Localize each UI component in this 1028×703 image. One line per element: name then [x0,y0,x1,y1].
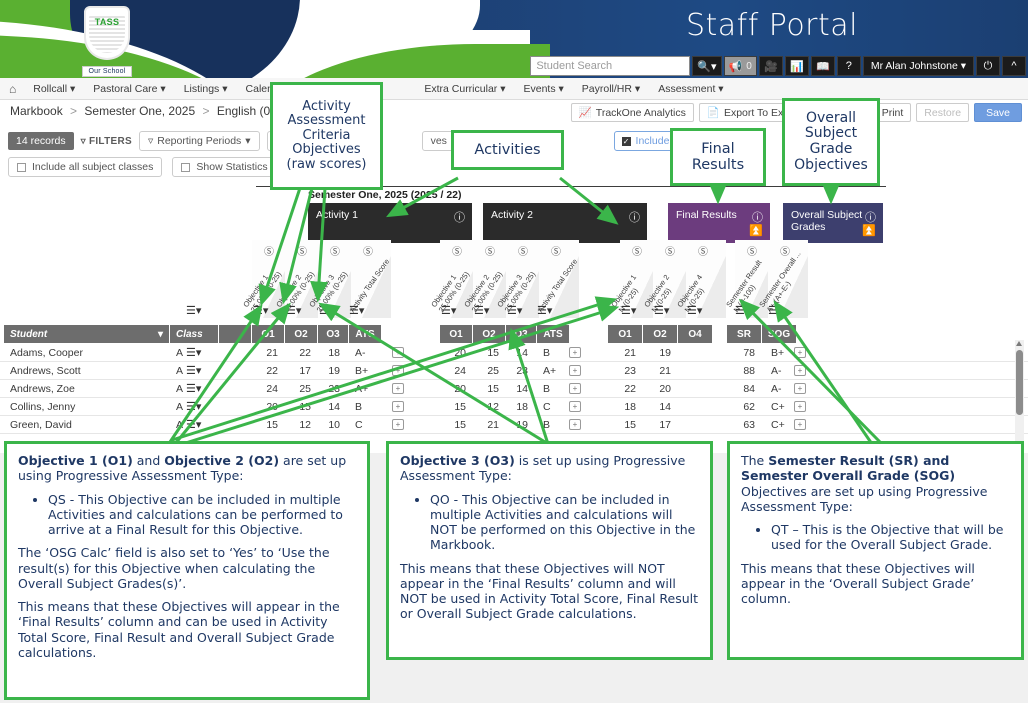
column-menu-icon[interactable]: ☰▾ [621,304,636,320]
fr-o2-cell[interactable]: 17 [643,416,677,434]
breadcrumb-separator: > [202,104,209,118]
a2-o1-cell[interactable]: 24 [440,362,472,380]
column-menu-icon-student[interactable]: ☰▾ [186,304,201,320]
a2-o1-cell[interactable]: 15 [440,398,472,416]
a1-o2-cell[interactable]: 17 [285,362,317,380]
column-header-fr-o2[interactable]: O2 [643,325,677,343]
breadcrumb-separator: > [70,104,77,118]
group-title: Activity 2 [491,209,533,221]
note-add-icon[interactable]: + [794,383,806,394]
info-icon[interactable]: ⓘ [629,209,640,225]
menu-label: Assessment [658,83,715,95]
menu-item-assessment[interactable]: Assessment ▾ [649,83,732,95]
student-name-cell[interactable]: Adams, Cooper [4,344,169,362]
note2-bullet-1: QO - This Objective can be included in m… [430,492,699,553]
a2-ats-cell[interactable]: B [537,416,569,434]
menu-label: Rollcall [33,83,67,95]
fr-o1-cell[interactable]: 15 [608,416,642,434]
no-entry-icon: Ⓢ [330,243,340,258]
column-header-a2-o1[interactable]: O1 [440,325,472,343]
a2-ats-cell[interactable]: B [537,344,569,362]
note-add-icon[interactable]: + [569,383,581,394]
a1-ats-cell[interactable]: A+ [349,380,381,398]
button-label: Restore [924,107,961,119]
column-menu-icon[interactable]: ☰▾ [507,304,522,320]
note2-paragraph-1: Objective 3 (O3) is set up using Progres… [400,453,699,484]
a1-ats-cell[interactable]: B+ [349,362,381,380]
column-header-class[interactable]: Class [170,325,218,343]
no-entry-icon: Ⓢ [747,243,757,258]
group-header-activity-2[interactable]: Activity 2 ⓘ [483,203,647,243]
a1-o1-cell[interactable]: 15 [252,416,284,434]
no-entry-icon: Ⓢ [518,243,528,258]
include-all-subject-classes-checkbox[interactable]: Include all subject classes [8,157,162,177]
a2-ats-cell[interactable]: B [537,380,569,398]
note-add-icon[interactable]: + [392,383,404,394]
callout-text: Activities [474,142,540,158]
note1-paragraph-3: This means that these Objectives will ap… [18,599,356,660]
shield-icon: TASS [84,6,130,60]
column-header-osg-sr[interactable]: SR [727,325,761,343]
column-menu-icon[interactable]: ☰▾ [768,304,783,320]
note2-paragraph-2: This means that these Objectives will NO… [400,561,699,622]
menu-item-payroll-hr[interactable]: Payroll/HR ▾ [573,83,649,95]
note3-paragraph-1: The Semester Result (SR) and Semester Ov… [741,453,1010,514]
checkbox-icon [181,163,190,172]
fr-o1-cell[interactable]: 23 [608,362,642,380]
record-count-badge: 14 records [8,132,74,150]
a1-o2-cell[interactable]: 22 [285,344,317,362]
a1-o2-cell[interactable]: 15 [285,398,317,416]
analytics-icon: 📈 [579,106,592,119]
secondary-filter-bar: Include all subject classes Show Statist… [8,157,277,177]
row-menu-icon[interactable]: ☰▾ [186,364,201,380]
scrollbar-thumb[interactable] [1016,350,1023,415]
note-add-icon[interactable]: + [794,401,806,412]
note-objective-3: Objective 3 (O3) is set up using Progres… [386,441,713,660]
logo-tass-text: TASS [86,17,128,27]
note2-bold: Objective 3 (O3) [400,453,515,468]
a2-o1-cell[interactable]: 20 [440,344,472,362]
note-semester-result-sog: The Semester Result (SR) and Semester Ov… [727,441,1024,660]
column-menu-icon[interactable]: ☰▾ [286,304,301,320]
group-header-overall-subject-grades[interactable]: Overall Subject Grades ⓘ ⏫ [783,203,883,243]
a1-o2-cell[interactable]: 25 [285,380,317,398]
book-icon[interactable]: 📖 [811,56,835,76]
checkbox-icon [17,163,26,172]
fr-o2-cell[interactable]: 19 [643,344,677,362]
column-header-fr-o4[interactable]: O4 [678,325,712,343]
note-add-icon[interactable]: + [392,365,404,376]
menu-item-listings[interactable]: Listings ▾ [175,83,237,95]
a2-o2-cell[interactable]: 21 [473,416,505,434]
filters-label[interactable]: ▿FILTERS [81,136,132,147]
student-name-cell[interactable]: Andrews, Zoe [4,380,169,398]
no-entry-icon: Ⓢ [264,243,274,258]
note-objective-1-2: Objective 1 (O1) and Objective 2 (O2) ar… [4,441,370,700]
video-icon[interactable]: 🎥 [759,56,783,76]
callout-text: Final Results [692,141,744,173]
column-header-fr-o1[interactable]: O1 [608,325,642,343]
help-icon[interactable]: ? [837,56,861,76]
restore-button[interactable]: Restore [916,103,969,122]
osg-sr-cell[interactable]: 62 [727,398,761,416]
note1-mid: and [133,453,164,468]
column-menu-icon[interactable]: ☰▾ [654,304,669,320]
reporting-periods-filter[interactable]: ▿Reporting Periods ▾ [139,131,260,151]
note1-bullet-1: QS - This Objective can be included in m… [48,492,356,538]
objective-header-band-osg: ⓈSemester ResultN (0-100) ⓈSemester Over… [735,240,895,318]
column-header-notes [219,325,251,343]
user-menu[interactable]: Mr Alan Johnstone ▾ [863,56,974,76]
home-icon[interactable]: ⌂ [0,82,24,96]
vertical-scrollbar[interactable] [1015,340,1024,450]
logo-school-name: Our School [82,66,131,77]
osg-sr-cell[interactable]: 63 [727,416,761,434]
sort-icon[interactable]: ▾ [158,329,169,340]
filter-label: Reporting Periods [157,135,241,147]
info-icon[interactable]: ⓘ [454,209,465,225]
note3-tail: Objectives are set up using Progressive … [741,484,988,514]
no-entry-icon: Ⓢ [297,243,307,258]
column-menu-icon[interactable]: ☰▾ [687,304,702,320]
fr-o4-cell[interactable] [678,398,712,416]
a2-o3-cell[interactable]: 18 [504,398,534,416]
fr-o4-cell[interactable] [678,416,712,434]
student-name-cell[interactable]: Green, David [4,416,169,434]
download-icon[interactable]: ⏫ [862,224,876,237]
show-statistics-checkbox[interactable]: Show Statistics [172,157,276,177]
note-add-icon[interactable]: + [392,419,404,430]
button-label: TrackOne Analytics [596,107,686,119]
no-entry-icon: Ⓢ [363,243,373,258]
note-add-icon[interactable]: + [569,401,581,412]
power-icon[interactable]: ⏻ [976,56,1000,76]
a1-o3-cell[interactable]: 18 [316,344,346,362]
a2-o2-cell[interactable]: 15 [473,380,505,398]
fr-o2-cell[interactable]: 20 [643,380,677,398]
a2-o1-cell[interactable]: 20 [440,380,472,398]
note1-paragraph-2: The ‘OSG Calc’ field is also set to ‘Yes… [18,545,356,591]
column-menu-icon[interactable]: ☰▾ [474,304,489,320]
filter-icon: ▿ [148,135,153,147]
menu-item-rollcall[interactable]: Rollcall ▾ [24,83,84,95]
osg-sr-cell[interactable]: 88 [727,362,761,380]
column-header-a2-o2[interactable]: O2 [473,325,505,343]
no-entry-icon: Ⓢ [551,243,561,258]
a2-o3-cell[interactable]: 14 [504,380,534,398]
header-utility-bar: Student Search 🔍▾ 📢0 🎥 📊 📖 ? Mr Alan Joh… [530,54,1026,78]
student-name-cell[interactable]: Andrews, Scott [4,362,169,380]
note2-bullets: QO - This Objective can be included in m… [400,492,699,553]
a2-o2-cell[interactable]: 15 [473,344,505,362]
row-menu-icon[interactable]: ☰▾ [186,382,201,398]
note1-bold-a: Objective 1 (O1) [18,453,133,468]
no-entry-icon: Ⓢ [665,243,675,258]
school-logo: TASS Our School [72,6,142,76]
group-title: Activity 1 [316,209,358,221]
note-add-icon[interactable]: + [392,401,404,412]
a1-o3-cell[interactable]: 19 [316,362,346,380]
note3-bullet-1: QT – This is the Objective that will be … [771,522,1010,553]
user-name: Mr Alan Johnstone [871,60,958,72]
no-entry-icon: Ⓢ [632,243,642,258]
a2-o2-cell[interactable]: 12 [473,398,505,416]
fr-o4-cell[interactable] [678,380,712,398]
no-entry-icon: Ⓢ [698,243,708,258]
column-menu-icon[interactable]: ☰▾ [735,304,750,320]
no-entry-icon: Ⓢ [780,243,790,258]
note-add-icon[interactable]: + [569,347,581,358]
column-menu-icon[interactable]: ☰▾ [349,304,364,320]
row-menu-icon[interactable]: ☰▾ [186,400,201,416]
a1-ats-cell[interactable]: B [349,398,381,416]
a1-o1-cell[interactable]: 20 [252,398,284,416]
menu-item-extra-curricular[interactable]: Extra Curricular ▾ [415,83,514,95]
note-add-icon[interactable]: + [569,365,581,376]
a2-o3-cell[interactable]: 19 [504,416,534,434]
column-header-a1-o2[interactable]: O2 [285,325,317,343]
a1-o1-cell[interactable]: 22 [252,362,284,380]
column-menu-icon[interactable]: ☰▾ [441,304,456,320]
no-entry-icon: Ⓢ [452,243,462,258]
menu-item-pastoral-care[interactable]: Pastoral Care ▾ [84,83,174,95]
a1-o2-cell[interactable]: 12 [285,416,317,434]
note3-paragraph-2: This means that these Objectives will ap… [741,561,1010,607]
button-label: Save [986,107,1010,119]
fr-o1-cell[interactable]: 22 [608,380,642,398]
page-title: Staff Portal [686,8,858,43]
column-header-a1-o3[interactable]: O3 [318,325,348,343]
a2-ats-cell[interactable]: A+ [537,362,569,380]
menu-item-events[interactable]: Events ▾ [514,83,572,95]
a1-o1-cell[interactable]: 21 [252,344,284,362]
no-entry-icon: Ⓢ [485,243,495,258]
note1-bold-b: Objective 2 (O2) [164,453,279,468]
callout-text: Activity Assessment Criteria Objectives … [287,100,367,173]
group-title: Final Results [676,209,737,221]
a1-ats-cell[interactable]: C [349,416,381,434]
note3-bullets: QT – This is the Objective that will be … [741,522,1010,553]
a1-ats-cell[interactable]: A- [349,344,381,362]
search-input[interactable]: Student Search [530,56,690,76]
menu-label: Events [523,83,555,95]
breadcrumb-item-markbook[interactable]: Markbook [10,104,63,118]
fr-o4-cell[interactable] [678,344,712,362]
scroll-up-arrow[interactable] [1016,341,1022,346]
group-title: Overall Subject Grades [791,209,862,233]
column-menu-icon[interactable]: ☰▾ [537,304,552,320]
fr-o4-cell[interactable] [678,362,712,380]
info-icon[interactable]: ⓘ [752,209,763,225]
breadcrumb: Markbook > Semester One, 2025 > English … [10,104,304,118]
notification-count: 0 [746,61,752,72]
callout-text: Overall Subject Grade Objectives [794,111,868,174]
checkbox-label: Include all subject classes [32,161,153,173]
menu-label: Listings [184,83,220,95]
group-header-final-results[interactable]: Final Results ⓘ ⏫ [668,203,770,243]
note-add-icon[interactable]: + [392,347,404,358]
menu-label: Pastoral Care [93,83,157,95]
column-header-a2-o3[interactable]: O3 [506,325,536,343]
a1-o3-cell[interactable]: 14 [316,398,346,416]
note3-bold: Semester Result (SR) and Semester Overal… [741,453,955,483]
callout-activity-criteria: Activity Assessment Criteria Objectives … [270,82,383,190]
column-menu-icon[interactable]: ☰▾ [253,304,268,320]
fr-o2-cell[interactable]: 14 [643,398,677,416]
a2-o3-cell[interactable]: 23 [504,362,534,380]
menu-label: Extra Curricular [424,83,497,95]
fr-o1-cell[interactable]: 18 [608,398,642,416]
semester-title: Semester One, 2025 (2025 / 22) [308,189,462,201]
export-icon: 📄 [707,106,720,119]
trackone-analytics-button[interactable]: 📈TrackOne Analytics [571,103,694,122]
a1-o3-cell[interactable]: 23 [316,380,346,398]
callout-activities: Activities [451,130,564,170]
a1-o3-cell[interactable]: 10 [316,416,346,434]
column-header-osg-sog[interactable]: SOG [762,325,796,343]
callout-final-results: Final Results [670,128,766,186]
column-menu-icon[interactable]: ☰▾ [319,304,334,320]
a2-o1-cell[interactable]: 15 [440,416,472,434]
column-header-student[interactable]: Student ▾ [4,325,169,343]
note1-bullets: QS - This Objective can be included in m… [18,492,356,538]
analytics-icon[interactable]: 📊 [785,56,809,76]
osg-sr-cell[interactable]: 84 [727,380,761,398]
main-menu-bar[interactable]: ⌂ Rollcall ▾ Pastoral Care ▾ Listings ▾ … [0,78,1028,100]
breadcrumb-item-semester[interactable]: Semester One, 2025 [84,104,195,118]
column-header-a2-ats[interactable]: ATS [537,325,569,343]
note3-lead: The [741,453,768,468]
menu-label: Payroll/HR [582,83,632,95]
chevron-up-icon[interactable]: ^ [1002,56,1026,76]
note-add-icon[interactable]: + [794,419,806,430]
checkbox-label: Show Statistics [196,161,267,173]
download-icon[interactable]: ⏫ [749,224,763,237]
column-header-a1-ats[interactable]: ATS [349,325,381,343]
fr-o1-cell[interactable]: 21 [608,344,642,362]
checkbox-icon: ✓ [622,137,631,146]
row-menu-icon[interactable]: ☰▾ [186,418,201,434]
filter-label: ves [431,135,447,147]
callout-osg-objectives: Overall Subject Grade Objectives [782,98,880,186]
a2-ats-cell[interactable]: C [537,398,569,416]
filter-icon: ▿ [81,136,86,147]
note1-paragraph-1: Objective 1 (O1) and Objective 2 (O2) ar… [18,453,356,484]
a2-o2-cell[interactable]: 25 [473,362,505,380]
row-menu-icon[interactable]: ☰▾ [186,346,201,362]
a2-o3-cell[interactable]: 14 [504,344,534,362]
info-icon[interactable]: ⓘ [865,209,876,225]
megaphone-icon[interactable]: 📢0 [724,56,757,76]
note-add-icon[interactable]: + [794,365,806,376]
group-header-activity-1[interactable]: Activity 1 ⓘ [308,203,472,243]
button-label: Print [882,107,904,119]
osg-sr-cell[interactable]: 78 [727,344,761,362]
note-add-icon[interactable]: + [794,347,806,358]
column-header-a1-o1[interactable]: O1 [252,325,284,343]
a1-o1-cell[interactable]: 24 [252,380,284,398]
note-add-icon[interactable]: + [569,419,581,430]
save-button[interactable]: Save [974,103,1022,122]
student-name-cell[interactable]: Collins, Jenny [4,398,169,416]
fr-o2-cell[interactable]: 21 [643,362,677,380]
search-icon[interactable]: 🔍▾ [692,56,721,76]
